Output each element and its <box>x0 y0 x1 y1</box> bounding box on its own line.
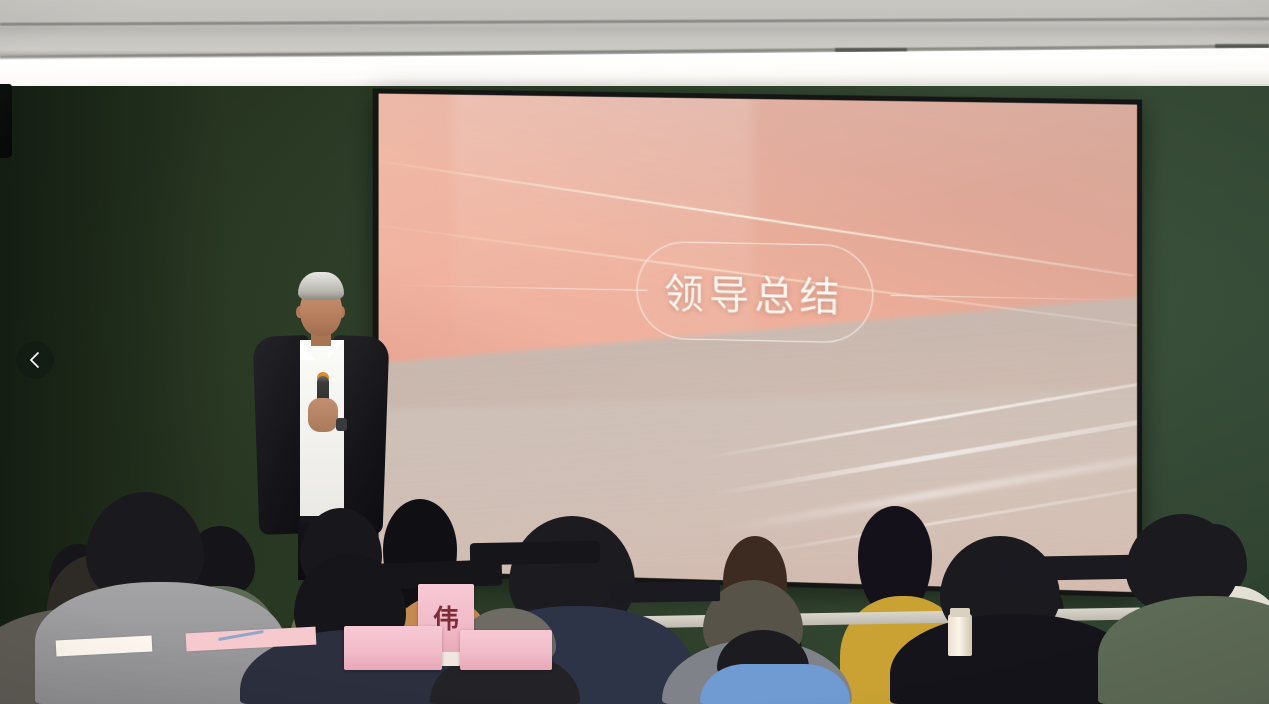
name-placard <box>460 630 552 670</box>
wall-mounted-speaker <box>0 84 12 158</box>
laptop <box>1000 555 1130 581</box>
photo-viewer: 领导总结 <box>0 0 1269 704</box>
audience: 伟 <box>0 434 1269 704</box>
list-item <box>700 630 850 704</box>
name-placard <box>344 626 442 670</box>
presenter-hair <box>298 272 344 300</box>
water-bottle <box>948 614 972 656</box>
slide-title: 领导总结 <box>664 261 845 323</box>
laptop <box>610 581 720 603</box>
attendee-torso <box>700 664 850 704</box>
presenter-hands <box>308 398 338 432</box>
water-bottle-cap <box>950 608 970 617</box>
ceiling-seam <box>0 17 1269 26</box>
attendee-torso <box>1098 596 1269 704</box>
slide-title-pill: 领导总结 <box>636 241 873 344</box>
presenter-watch <box>336 418 347 431</box>
chair-back <box>470 541 600 565</box>
chevron-left-icon <box>28 350 42 370</box>
carousel-prev-button[interactable] <box>16 341 54 379</box>
list-item <box>1098 514 1269 704</box>
